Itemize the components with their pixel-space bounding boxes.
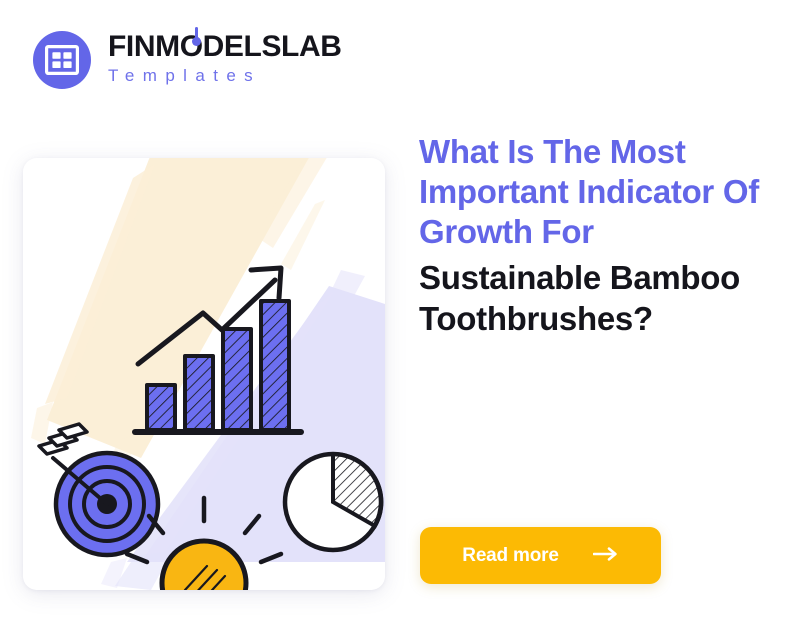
pie-chart xyxy=(285,454,381,550)
illustration-card: $ xyxy=(23,158,385,590)
grid-squares-icon xyxy=(33,31,91,89)
business-growth-illustration: $ xyxy=(23,158,385,590)
headline-block: What Is The Most Important Indicator Of … xyxy=(419,132,767,339)
brand-name: FINMODELSLAB xyxy=(108,31,342,63)
arrow-right-icon xyxy=(593,547,619,564)
read-more-label: Read more xyxy=(462,545,558,567)
brand-text: FINMODELSLAB Templates xyxy=(108,31,342,89)
page-title: What Is The Most Important Indicator Of … xyxy=(419,132,767,252)
read-more-button[interactable]: Read more xyxy=(420,527,661,584)
brand-tagline: Templates xyxy=(108,65,342,87)
promo-banner: FINMODELSLAB Templates xyxy=(0,0,800,618)
page-subtitle: Sustainable Bamboo Toothbrushes? xyxy=(419,257,767,339)
brand-name-text: FINMODELSLAB xyxy=(108,30,342,63)
brand-logo[interactable]: FINMODELSLAB Templates xyxy=(33,31,342,89)
